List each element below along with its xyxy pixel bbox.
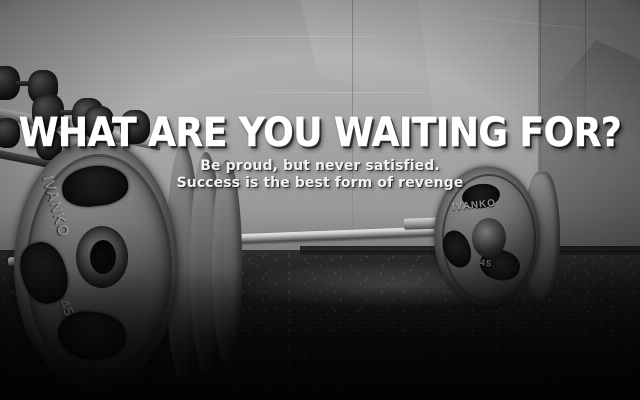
poster-canvas: IVANKO 45 IVANKO 45 WHAT ARE YOU WAITING…: [0, 0, 640, 400]
weight-plate-bore: [90, 240, 116, 274]
subtitle-line-2: Success is the best form of revenge: [0, 175, 640, 192]
poster-subtitle: Be proud, but never satisfied. Success i…: [0, 158, 640, 192]
subtitle-line-1: Be proud, but never satisfied.: [0, 158, 640, 175]
wall-crease: [140, 36, 440, 37]
poster-text-block: WHAT ARE YOU WAITING FOR? Be proud, but …: [0, 112, 640, 192]
poster-headline: WHAT ARE YOU WAITING FOR?: [0, 112, 640, 154]
wall-crease: [220, 92, 480, 93]
weight-plate-hub-right: [472, 218, 506, 258]
